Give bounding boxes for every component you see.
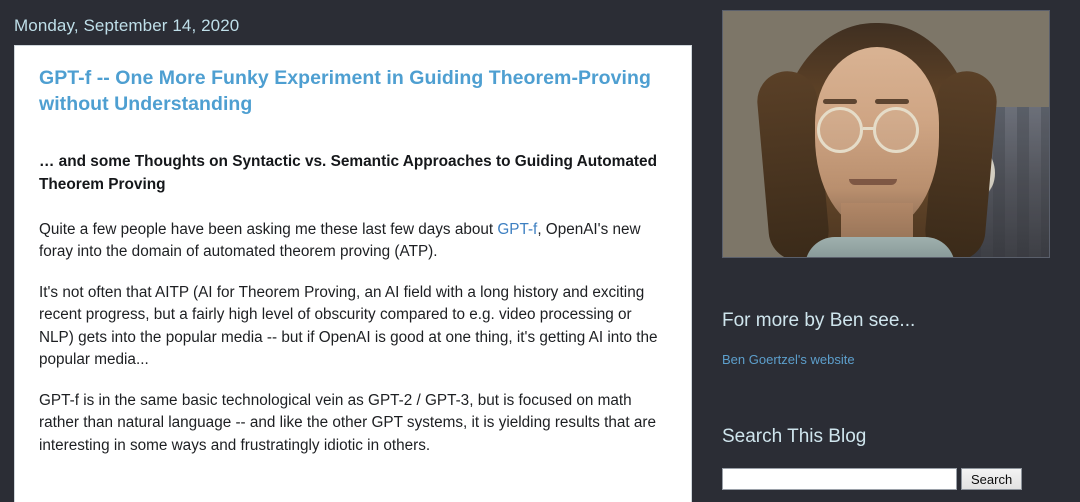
paragraph-1-text-before: Quite a few people have been asking me t… xyxy=(39,221,497,238)
blog-page: Monday, September 14, 2020 GPT-f -- One … xyxy=(0,0,1080,502)
post-paragraph-1: Quite a few people have been asking me t… xyxy=(39,219,667,264)
photo-shirt xyxy=(805,237,955,258)
photo-eyeglass-bridge xyxy=(863,127,875,130)
post-paragraph-2: It's not often that AITP (AI for Theorem… xyxy=(39,282,667,372)
post-card: GPT-f -- One More Funky Experiment in Gu… xyxy=(14,45,692,502)
sidebar-heading-search-this-blog: Search This Blog xyxy=(722,426,866,448)
main-content-column: Monday, September 14, 2020 GPT-f -- One … xyxy=(0,0,700,502)
post-date: Monday, September 14, 2020 xyxy=(14,16,239,36)
photo-eyebrow-left xyxy=(823,99,857,104)
profile-photo-image xyxy=(723,11,1049,257)
profile-photo xyxy=(722,10,1050,258)
search-input[interactable] xyxy=(722,468,957,490)
post-subheading: … and some Thoughts on Syntactic vs. Sem… xyxy=(39,151,667,196)
photo-eyebrow-right xyxy=(875,99,909,104)
photo-eyeglass-right xyxy=(873,107,919,153)
ben-goertzel-website-link[interactable]: Ben Goertzel's website xyxy=(722,352,855,367)
photo-eyeglass-left xyxy=(817,107,863,153)
search-button[interactable]: Search xyxy=(961,468,1022,490)
photo-mouth xyxy=(849,179,897,185)
sidebar: For more by Ben see... Ben Goertzel's we… xyxy=(700,0,1080,502)
post-card-inner: GPT-f -- One More Funky Experiment in Gu… xyxy=(15,46,691,457)
post-title[interactable]: GPT-f -- One More Funky Experiment in Gu… xyxy=(39,66,667,117)
sidebar-heading-for-more-by-ben: For more by Ben see... xyxy=(722,310,915,332)
gpt-f-link[interactable]: GPT-f xyxy=(497,221,537,238)
post-body: … and some Thoughts on Syntactic vs. Sem… xyxy=(39,151,667,457)
post-paragraph-3: GPT-f is in the same basic technological… xyxy=(39,390,667,457)
search-form: Search xyxy=(722,468,1022,490)
